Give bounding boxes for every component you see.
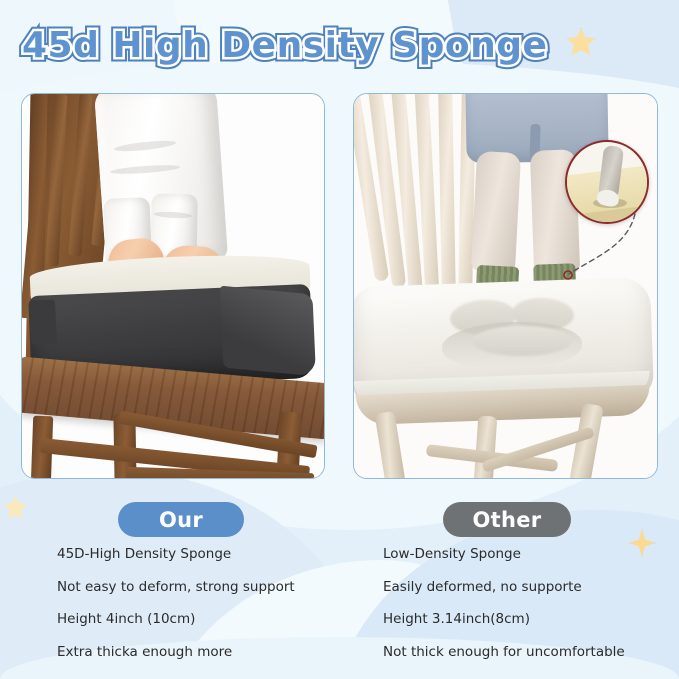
our-photo-content <box>22 94 324 478</box>
our-feature-item: Height 4inch (10cm) <box>57 613 357 627</box>
badge-other-label: Other <box>473 508 542 532</box>
page-title: 45d High Density Sponge <box>22 18 542 72</box>
other-feature-item: Not thick enough for uncomfortable <box>383 646 673 660</box>
our-feature-item: Extra thicka enough more <box>57 646 357 660</box>
our-feature-list: 45D-High Density Sponge Not easy to defo… <box>57 548 357 678</box>
foam-deformation-callout <box>565 140 649 224</box>
our-feature-item: Not easy to deform, strong support <box>57 581 357 595</box>
callout-leader-line <box>539 212 649 292</box>
badge-other: Other <box>443 502 571 537</box>
star-left-mid-icon <box>3 495 28 521</box>
other-feature-item: Easily deformed, no supporte <box>383 581 673 595</box>
other-feature-item: Low-Density Sponge <box>383 548 673 562</box>
other-feature-item: Height 3.14inch(8cm) <box>383 613 673 627</box>
star-top-right-icon <box>566 28 596 58</box>
badge-our: Our <box>118 502 244 537</box>
badge-our-label: Our <box>159 508 203 532</box>
other-cushion-sag <box>472 326 572 356</box>
page-title-text: 45d High Density Sponge <box>22 25 547 66</box>
our-cushion-strap <box>29 299 57 344</box>
other-photo-content <box>354 94 657 478</box>
our-feature-item: 45D-High Density Sponge <box>57 548 357 562</box>
infographic-root: 45d High Density Sponge 45d High Density… <box>0 0 679 679</box>
product-photo-our <box>21 93 325 479</box>
our-cushion-side-face <box>220 286 316 377</box>
product-photo-other <box>353 93 658 479</box>
other-child-leg <box>471 151 521 273</box>
other-feature-list: Low-Density Sponge Easily deformed, no s… <box>383 548 673 678</box>
